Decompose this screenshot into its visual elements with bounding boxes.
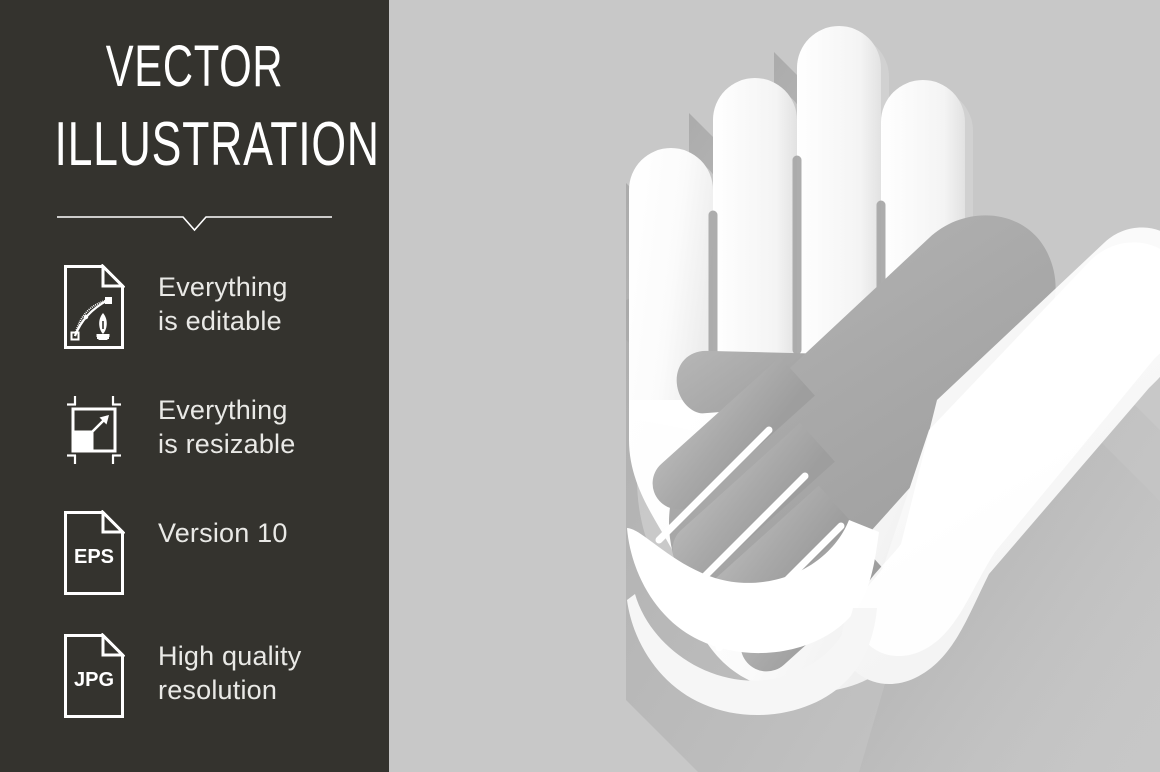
resize-arrow-icon <box>63 387 125 473</box>
eps-file-icon: EPS <box>63 510 125 596</box>
jpg-file-icon-text: JPG <box>74 669 114 691</box>
poster-title-block: VECTOR ILLUSTRATION <box>0 38 389 176</box>
divider-chevron-icon <box>57 205 332 235</box>
jpg-file-icon: JPG <box>63 633 125 719</box>
document-pen-tool-icon <box>63 264 125 350</box>
title-line-vector: VECTOR <box>54 38 334 96</box>
left-info-panel: VECTOR ILLUSTRATION <box>0 0 389 772</box>
feature-label-resolution: High quality resolution <box>158 639 301 708</box>
feature-item-editable: Everything is editable <box>0 262 389 385</box>
poster-stage: VECTOR ILLUSTRATION <box>0 0 1160 772</box>
feature-list: Everything is editable <box>0 262 389 754</box>
feature-item-resolution: JPG High quality resolution <box>0 631 389 754</box>
title-line-illustration: ILLUSTRATION <box>54 114 334 176</box>
feature-label-resizable: Everything is resizable <box>158 393 295 462</box>
artwork-panel <box>389 0 1160 772</box>
helping-hands-illustration <box>389 0 1160 772</box>
feature-label-editable: Everything is editable <box>158 270 288 339</box>
feature-label-version: Version 10 <box>158 516 288 550</box>
eps-file-icon-text: EPS <box>74 546 114 568</box>
feature-item-version: EPS Version 10 <box>0 508 389 631</box>
feature-item-resizable: Everything is resizable <box>0 385 389 508</box>
